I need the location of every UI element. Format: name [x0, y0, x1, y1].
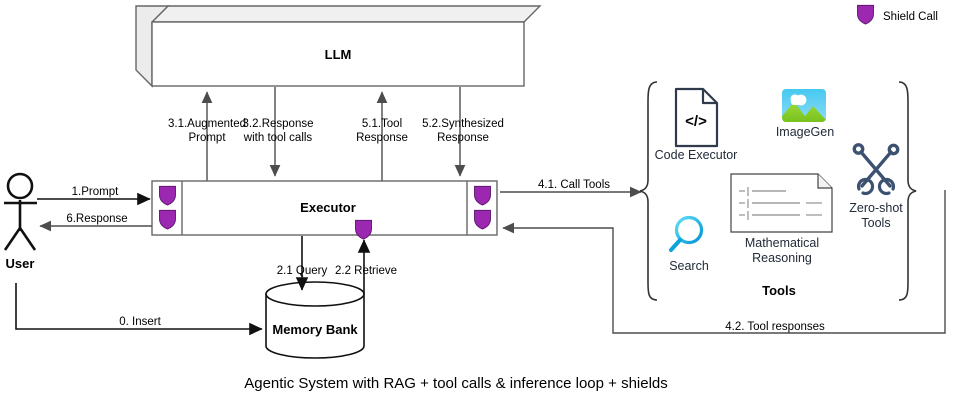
edge-label-3-2-line2: with tool calls [243, 132, 313, 144]
tool-label-zero-shot-line1: Zero-shot [849, 201, 903, 215]
shield-icon [475, 210, 491, 229]
diagram-caption: Agentic System with RAG + tool calls & i… [244, 375, 668, 392]
shield-icon [160, 210, 176, 229]
edge-augmented-prompt: 3.1.Augmented Prompt [168, 92, 246, 181]
tool-label-imagegen: ImageGen [776, 125, 834, 139]
tool-search[interactable]: Search [669, 218, 709, 274]
edge-label-2-1-query: 2.1 Query [277, 265, 328, 277]
user-node[interactable]: User [4, 174, 37, 271]
shield-icon [356, 220, 372, 239]
executor-node[interactable]: Executor [152, 181, 497, 239]
edge-label-5-1-line2: Response [356, 132, 408, 144]
executor-label: Executor [300, 200, 356, 215]
edge-synthesized-response: 5.2.Synthesized Response [422, 87, 504, 176]
tools-left-brace [640, 82, 657, 300]
edge-label-0-insert: 0. Insert [119, 316, 161, 328]
tool-label-code-executor: Code Executor [655, 148, 738, 162]
llm-node[interactable]: LLM [136, 6, 540, 86]
tool-math-reasoning[interactable]: Mathematical Reasoning [731, 174, 832, 265]
legend-shield-call: Shield Call [858, 5, 938, 24]
tools-group[interactable]: </> Code Executor ImageGen [640, 82, 916, 300]
edge-label-3-1-line1: 3.1.Augmented [168, 118, 246, 130]
diagram-canvas: LLM 3.1.Augmented Prompt 3.2.Response wi… [0, 0, 970, 411]
edge-label-5-1-line1: 5.1.Tool [362, 118, 402, 130]
edge-label-3-1-line2: Prompt [188, 132, 226, 144]
edge-tool-response: 5.1.Tool Response [356, 92, 408, 181]
tool-zero-shot[interactable]: Zero-shot Tools [849, 145, 903, 230]
tool-label-search: Search [669, 259, 709, 273]
edge-label-4-1-call-tools: 4.1. Call Tools [538, 179, 610, 191]
tools-group-label: Tools [762, 283, 796, 298]
shield-icon [475, 186, 491, 205]
edge-label-2-2-retrieve: 2.2 Retrieve [335, 265, 397, 277]
edge-call-tools: 4.1. Call Tools [500, 179, 641, 192]
memory-bank-node[interactable]: Memory Bank [266, 282, 364, 358]
edge-label-3-2-line1: 3.2.Response [243, 118, 314, 130]
tool-imagegen[interactable]: ImageGen [776, 89, 834, 139]
shield-icon [160, 186, 176, 205]
memory-bank-label: Memory Bank [272, 322, 358, 337]
llm-label: LLM [325, 47, 352, 62]
edge-label-5-2-line2: Response [437, 132, 489, 144]
edge-label-4-2-tool-responses: 4.2. Tool responses [725, 321, 825, 333]
tool-code-executor[interactable]: </> Code Executor [655, 89, 738, 162]
code-document-icon: </> [676, 89, 717, 146]
edge-label-5-2-line1: 5.2.Synthesized [422, 118, 504, 130]
edge-response-tool-calls: 3.2.Response with tool calls [243, 87, 314, 176]
svg-text:</>: </> [685, 113, 707, 130]
formula-document-icon [731, 174, 832, 232]
tool-label-zero-shot-line2: Tools [861, 216, 890, 230]
tool-label-math-line2: Reasoning [752, 251, 812, 265]
tool-label-math-line1: Mathematical [745, 236, 819, 250]
edge-insert: 0. Insert [16, 283, 262, 329]
edge-response: 6.Response [40, 213, 152, 226]
edge-label-1-prompt: 1.Prompt [72, 186, 119, 198]
magnifier-icon [671, 218, 702, 251]
legend-label: Shield Call [883, 11, 938, 23]
crossed-wrenches-icon [854, 145, 897, 194]
image-photo-icon [782, 89, 826, 122]
edge-prompt: 1.Prompt [37, 186, 150, 199]
tools-right-brace [899, 82, 916, 300]
user-label: User [6, 256, 35, 271]
edge-label-6-response: 6.Response [66, 213, 127, 225]
shield-icon [858, 5, 874, 24]
